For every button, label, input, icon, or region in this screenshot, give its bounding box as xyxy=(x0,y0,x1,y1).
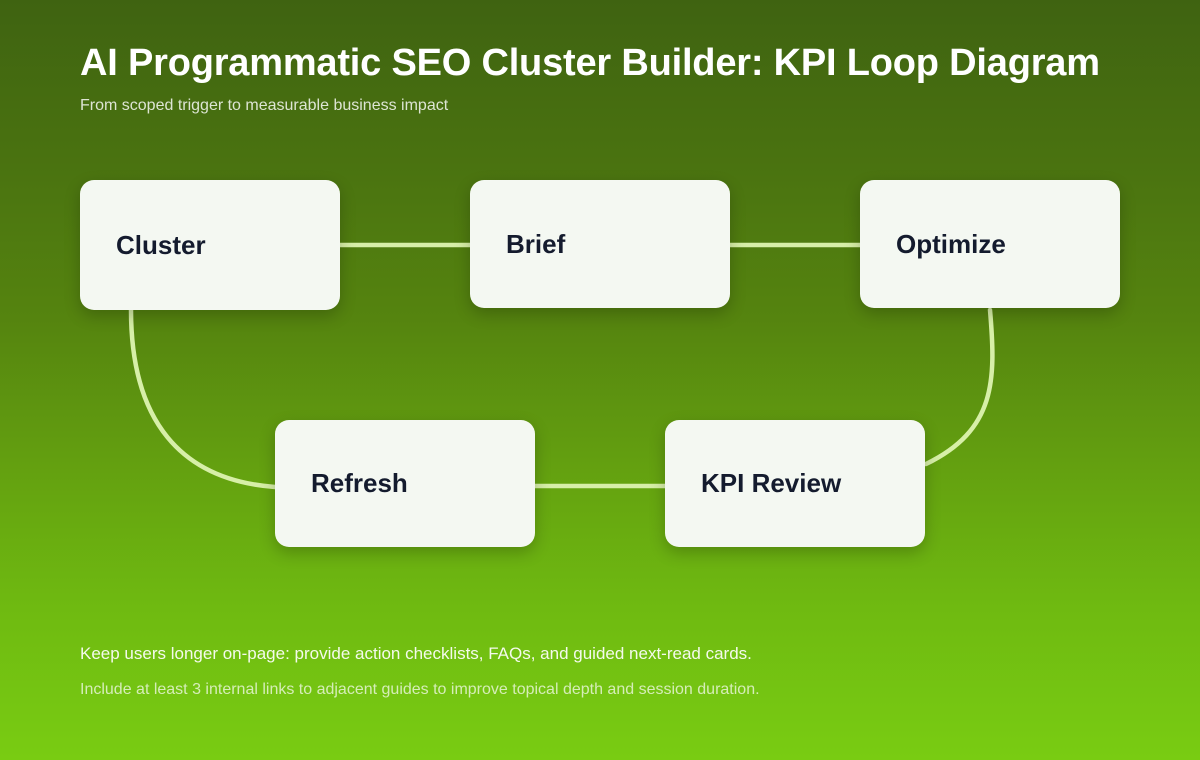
node-kpi-review-label: KPI Review xyxy=(701,469,841,498)
edge-refresh-to-cluster xyxy=(131,310,275,487)
node-brief-label: Brief xyxy=(506,230,565,259)
diagram-canvas: AI Programmatic SEO Cluster Builder: KPI… xyxy=(0,0,1200,760)
footer-notes: Keep users longer on-page: provide actio… xyxy=(80,645,1140,698)
node-cluster-label: Cluster xyxy=(116,231,206,260)
node-cluster[interactable]: Cluster xyxy=(80,180,340,310)
node-optimize-label: Optimize xyxy=(896,230,1006,259)
node-brief[interactable]: Brief xyxy=(470,180,730,308)
footer-note-secondary: Include at least 3 internal links to adj… xyxy=(80,682,1140,698)
footer-note-primary: Keep users longer on-page: provide actio… xyxy=(80,645,1140,682)
edge-optimize-to-kpireview xyxy=(926,310,992,464)
node-kpi-review[interactable]: KPI Review xyxy=(665,420,925,547)
node-refresh-label: Refresh xyxy=(311,469,408,498)
node-refresh[interactable]: Refresh xyxy=(275,420,535,547)
node-optimize[interactable]: Optimize xyxy=(860,180,1120,308)
